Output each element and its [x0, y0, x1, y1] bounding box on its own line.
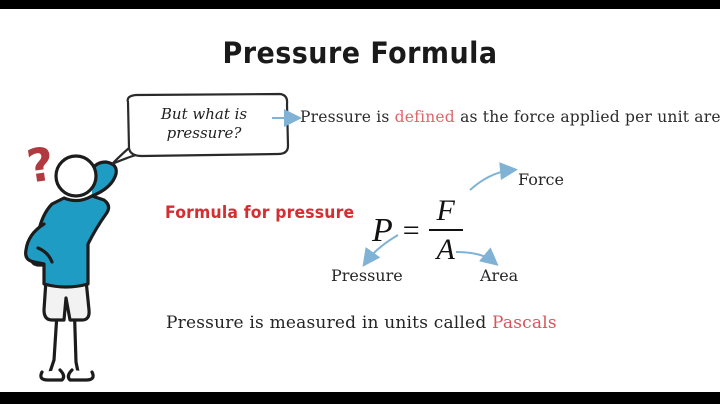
- formula-denominator: A: [437, 231, 455, 265]
- units-before: Pressure is measured in units called: [166, 313, 492, 333]
- pressure-formula: P = F A: [372, 196, 463, 265]
- definition-sentence: Pressure is defined as the force applied…: [300, 108, 720, 126]
- formula-fraction: F A: [429, 196, 463, 265]
- page-title: Pressure Formula: [25, 36, 695, 70]
- speech-bubble-text: But what is pressure?: [134, 105, 274, 143]
- letterbox-bottom-bar: [0, 392, 720, 404]
- slide-canvas: Pressure Formula: [0, 0, 720, 404]
- formula-for-pressure-label: Formula for pressure: [165, 203, 354, 223]
- letterbox-top-bar: [0, 0, 720, 9]
- definition-after: as the force applied per unit area.: [455, 108, 720, 126]
- formula-lhs: P: [372, 212, 393, 250]
- formula-numerator: F: [437, 196, 455, 229]
- label-pressure: Pressure: [331, 266, 403, 285]
- speech-bubble: But what is pressure?: [112, 92, 302, 172]
- units-highlight: Pascals: [492, 313, 557, 333]
- arrow-to-force: [470, 170, 512, 190]
- label-area: Area: [480, 266, 518, 285]
- label-force: Force: [518, 170, 564, 189]
- definition-highlight: defined: [395, 108, 455, 126]
- definition-before: Pressure is: [300, 108, 395, 126]
- formula-equals: =: [403, 214, 420, 248]
- units-sentence: Pressure is measured in units called Pas…: [166, 313, 557, 333]
